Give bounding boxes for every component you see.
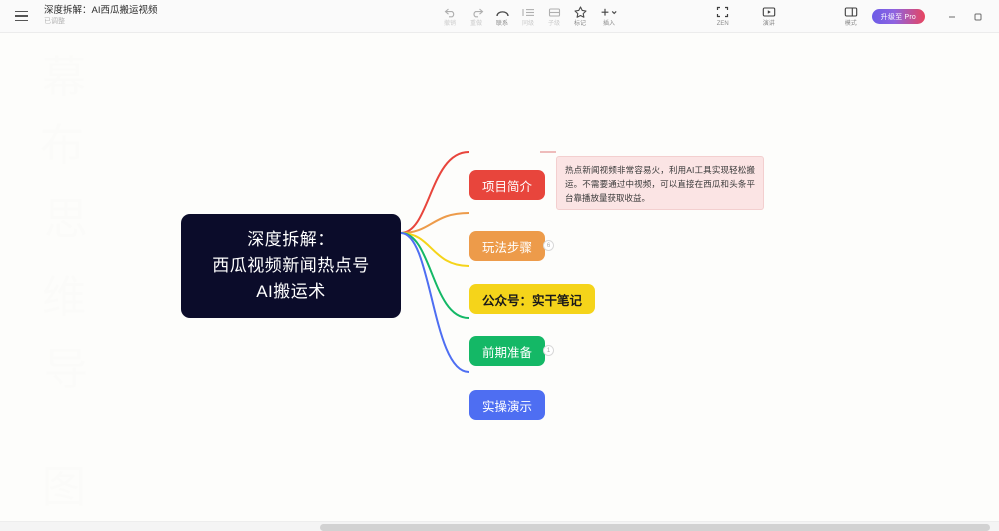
relation-button[interactable]: 联系 (489, 0, 515, 33)
restore-icon[interactable] (965, 0, 991, 33)
branch-node-demo[interactable]: 实操演示 (469, 390, 545, 420)
undo-icon (444, 6, 457, 19)
relation-label: 联系 (496, 20, 508, 28)
undo-button[interactable]: 撤销 (437, 0, 463, 33)
mark-button[interactable]: 标记 (567, 0, 593, 33)
panel-icon (844, 6, 858, 19)
center-toolbar: 撤销 重做 联系 (437, 0, 625, 33)
root-line-1: 深度拆解： (247, 228, 335, 252)
plus-icon (599, 6, 619, 19)
presentation-button[interactable]: 演讲 (752, 0, 786, 33)
app-header: 深度拆解：AI西瓜搬运视频 已调整 撤销 重做 (0, 0, 999, 33)
root-line-2: 西瓜视频新闻热点号 (212, 254, 370, 278)
right-toolbar: ZEN 演讲 模式 升级至 Pro (706, 0, 999, 33)
sibling-button[interactable]: 同级 (515, 0, 541, 33)
star-icon (574, 6, 587, 19)
child-count-badge[interactable]: 1 (543, 345, 554, 356)
branch-node-gameplay-steps[interactable]: 玩法步骤 (469, 231, 545, 261)
mark-label: 标记 (574, 20, 586, 28)
child-button[interactable]: 子级 (541, 0, 567, 33)
save-status: 已调整 (44, 17, 157, 27)
app-window: 深度拆解：AI西瓜搬运视频 已调整 撤销 重做 (0, 0, 999, 531)
undo-label: 撤销 (444, 20, 456, 28)
redo-label: 重做 (470, 20, 482, 28)
zen-icon (716, 6, 729, 19)
branch-node-project-intro[interactable]: 项目简介 (469, 170, 545, 200)
sibling-icon (522, 6, 535, 19)
child-icon (548, 6, 561, 19)
zen-label: ZEN (717, 20, 729, 28)
page-title: 深度拆解：AI西瓜搬运视频 (44, 5, 157, 17)
presentation-label: 演讲 (763, 20, 775, 28)
root-line-3: AI搬运术 (256, 280, 326, 304)
child-label: 子级 (548, 20, 560, 28)
hamburger-icon[interactable] (6, 0, 36, 33)
branch-connectors (0, 33, 999, 531)
panel-mode-button[interactable]: 模式 (834, 0, 868, 33)
upgrade-pro-button[interactable]: 升级至 Pro (872, 9, 925, 24)
panel-label: 模式 (845, 20, 857, 28)
child-count-badge[interactable]: 6 (543, 240, 554, 251)
redo-button[interactable]: 重做 (463, 0, 489, 33)
branch-node-preparation[interactable]: 前期准备 (469, 336, 545, 366)
theme-icon (495, 6, 510, 19)
minimize-icon[interactable] (939, 0, 965, 33)
insert-label: 插入 (603, 20, 615, 28)
zen-mode-button[interactable]: ZEN (706, 0, 740, 33)
scrollbar-thumb[interactable] (320, 524, 990, 531)
horizontal-scrollbar[interactable] (0, 521, 999, 531)
note-card[interactable]: 热点新闻视频非常容易火，利用AI工具实现轻松搬运。不需要通过中视频，可以直接在西… (556, 156, 764, 210)
play-icon (762, 6, 776, 19)
document-info: 深度拆解：AI西瓜搬运视频 已调整 (44, 5, 157, 27)
mindmap-canvas[interactable]: 幕 布 思 维 导 图 深度拆解： 西瓜视频新闻热点号 AI搬运术 项目简介 玩… (0, 33, 999, 531)
insert-button[interactable]: 插入 (593, 0, 625, 33)
redo-icon (469, 6, 484, 19)
sibling-label: 同级 (522, 20, 534, 28)
branch-node-official-account[interactable]: 公众号：实干笔记 (469, 284, 595, 314)
root-node[interactable]: 深度拆解： 西瓜视频新闻热点号 AI搬运术 (181, 214, 401, 318)
